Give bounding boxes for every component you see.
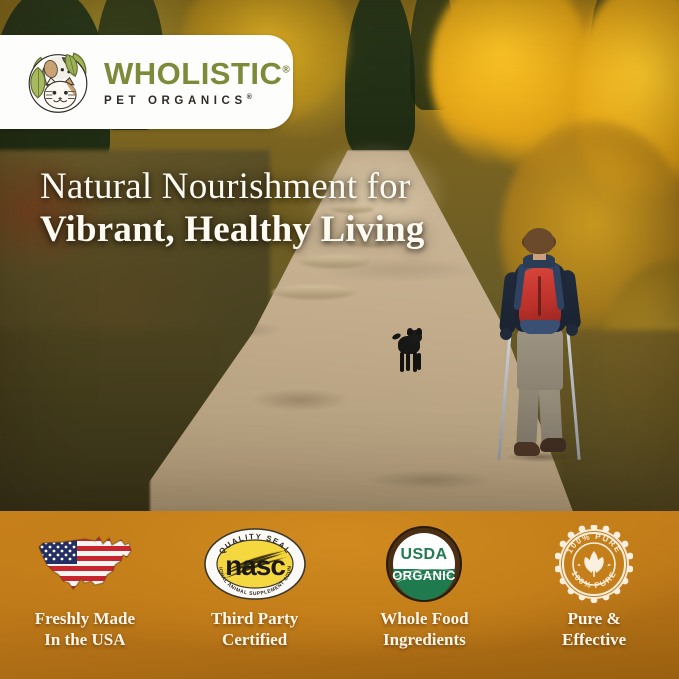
usda-organic-seal-icon: USDA ORGANIC: [385, 525, 463, 603]
trust-badge-bar: Freshly Made In the USA: [0, 511, 679, 679]
product-lifestyle-banner: WHOLISTIC® PET ORGANICS® Natural Nourish…: [0, 0, 679, 679]
registered-trademark-icon: ®: [282, 64, 290, 75]
badge-label: Third Party Certified: [211, 609, 298, 650]
badge-pure-effective: 100% PURE 100% PURE: [509, 511, 679, 679]
badge-third-party-certified: QUALITY SEAL NATIONAL ANIMAL SUPPLEMENT …: [170, 511, 340, 679]
trekking-pole: [498, 334, 512, 460]
dog-leg: [400, 352, 404, 372]
trail-puddle: [272, 285, 356, 299]
hundred-percent-pure-leaf-badge-icon: 100% PURE 100% PURE: [555, 525, 633, 603]
brand-logo-panel: WHOLISTIC® PET ORGANICS®: [0, 35, 293, 129]
trekking-pole: [566, 330, 580, 460]
usa-flag-map-icon: [33, 525, 137, 603]
hiker-hand: [500, 328, 512, 340]
hiker-hand: [566, 324, 578, 336]
badge-label: Freshly Made In the USA: [35, 609, 135, 650]
tagline-registered-icon: ®: [247, 94, 252, 101]
nasc-quality-seal-icon: QUALITY SEAL NATIONAL ANIMAL SUPPLEMENT …: [203, 525, 307, 603]
brand-name: WHOLISTIC®: [104, 58, 290, 89]
dog-leg: [406, 353, 410, 371]
hero-headline: Natural Nourishment for Vibrant, Healthy…: [40, 166, 640, 252]
conifer-tree: [345, 0, 415, 159]
badge-label: Pure & Effective: [562, 609, 626, 650]
brand-tagline: PET ORGANICS®: [104, 94, 290, 107]
hiker-boot: [540, 438, 566, 452]
svg-text:nasc: nasc: [225, 550, 285, 581]
dog-cat-leaf-circle-logo-icon: [22, 46, 94, 118]
badge-whole-food-ingredients: USDA ORGANIC Whole Food Ingredients: [340, 511, 510, 679]
svg-text:ORGANIC: ORGANIC: [393, 568, 457, 583]
hiker-boot: [514, 442, 540, 456]
svg-text:USDA: USDA: [401, 546, 448, 563]
dog-leg: [417, 353, 421, 370]
dog-ear: [416, 328, 422, 335]
hiker-pants: [517, 328, 563, 390]
brand-wordmark: WHOLISTIC® PET ORGANICS®: [104, 58, 290, 107]
trail-puddle: [300, 255, 370, 268]
badge-label: Whole Food Ingredients: [380, 609, 468, 650]
backpack-zipper: [538, 276, 541, 316]
hiker-figure: [492, 228, 584, 468]
headline-line-2: Vibrant, Healthy Living: [40, 209, 640, 252]
headline-line-1: Natural Nourishment for: [40, 166, 640, 209]
dog-ear: [407, 328, 413, 335]
badge-freshly-made-usa: Freshly Made In the USA: [0, 511, 170, 679]
backpack-bottom-panel: [520, 320, 560, 334]
black-dog: [396, 330, 426, 376]
